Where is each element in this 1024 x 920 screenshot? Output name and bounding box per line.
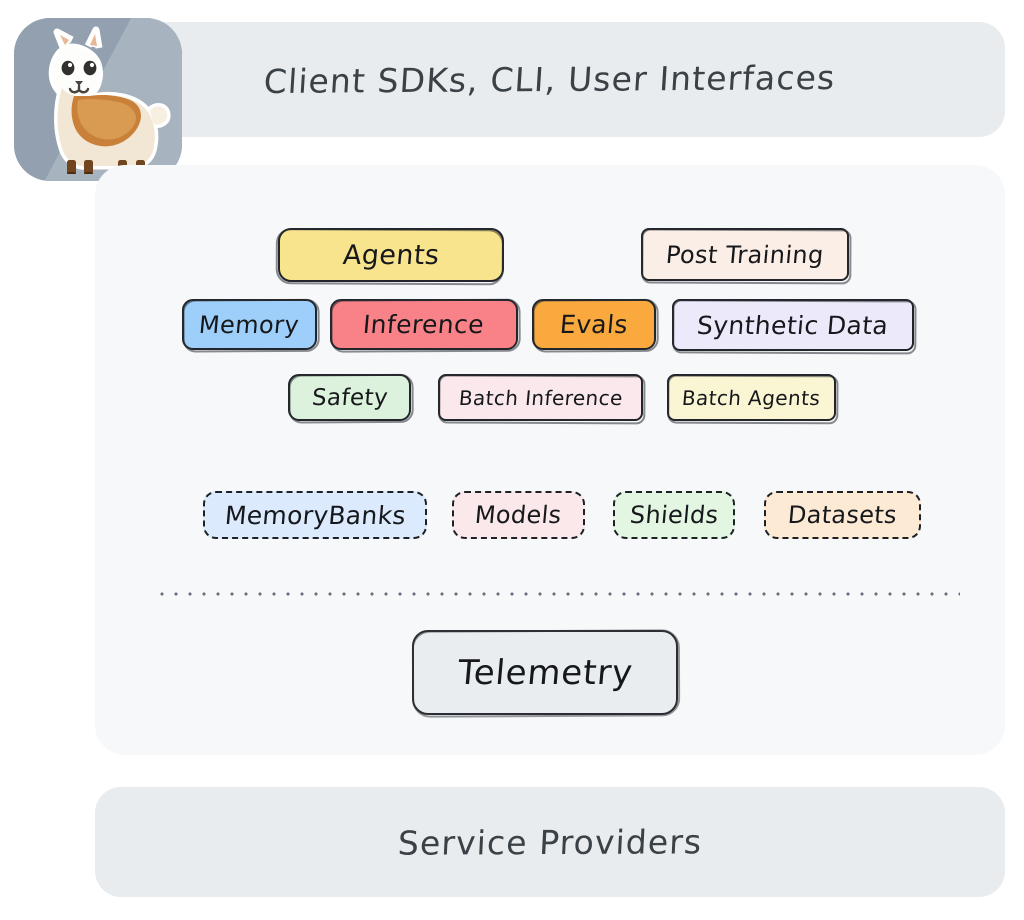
header-band: Client SDKs, CLI, User Interfaces: [95, 22, 1005, 137]
api-box-safety[interactable]: Safety: [288, 374, 411, 421]
resource-box-datasets[interactable]: Datasets: [764, 491, 921, 539]
api-box-post-training-label: Post Training: [665, 241, 825, 269]
resource-box-models-label: Models: [474, 501, 563, 529]
resource-box-memorybanks[interactable]: MemoryBanks: [203, 491, 427, 539]
api-box-batch-agents-label: Batch Agents: [681, 386, 821, 410]
telemetry-box[interactable]: Telemetry: [412, 630, 678, 715]
api-box-inference[interactable]: Inference: [330, 299, 518, 350]
apis-panel: Agents Post Training Memory Inference Ev…: [95, 165, 1005, 755]
api-box-memory[interactable]: Memory: [182, 299, 317, 350]
resource-box-shields-label: Shields: [629, 501, 720, 529]
api-box-evals-label: Evals: [559, 310, 629, 339]
resource-box-shields[interactable]: Shields: [613, 491, 735, 539]
llama-logo-icon: [14, 18, 182, 181]
api-box-agents[interactable]: Agents: [278, 228, 504, 282]
diagram-canvas: Client SDKs, CLI, User Interfaces: [0, 0, 1024, 920]
api-box-batch-agents[interactable]: Batch Agents: [667, 374, 836, 421]
resource-box-memorybanks-label: MemoryBanks: [223, 501, 406, 530]
resource-box-datasets-label: Datasets: [787, 501, 898, 529]
api-box-batch-inference-label: Batch Inference: [458, 386, 624, 410]
api-box-batch-inference[interactable]: Batch Inference: [438, 374, 643, 421]
api-box-inference-label: Inference: [362, 310, 486, 339]
api-box-memory-label: Memory: [198, 311, 300, 339]
api-box-synthetic-data[interactable]: Synthetic Data: [672, 299, 914, 351]
footer-title: Service Providers: [397, 822, 703, 862]
header-title: Client SDKs, CLI, User Interfaces: [263, 58, 837, 101]
api-box-post-training[interactable]: Post Training: [641, 228, 849, 281]
llama-glyph-icon: [26, 26, 172, 174]
api-box-agents-label: Agents: [341, 240, 440, 271]
api-box-synthetic-data-label: Synthetic Data: [696, 311, 890, 340]
api-box-evals[interactable]: Evals: [532, 299, 656, 350]
api-box-safety-label: Safety: [310, 385, 388, 411]
footer-band: Service Providers: [95, 787, 1005, 897]
section-divider: [155, 592, 960, 596]
telemetry-box-label: Telemetry: [456, 653, 634, 693]
resource-box-models[interactable]: Models: [452, 491, 585, 539]
